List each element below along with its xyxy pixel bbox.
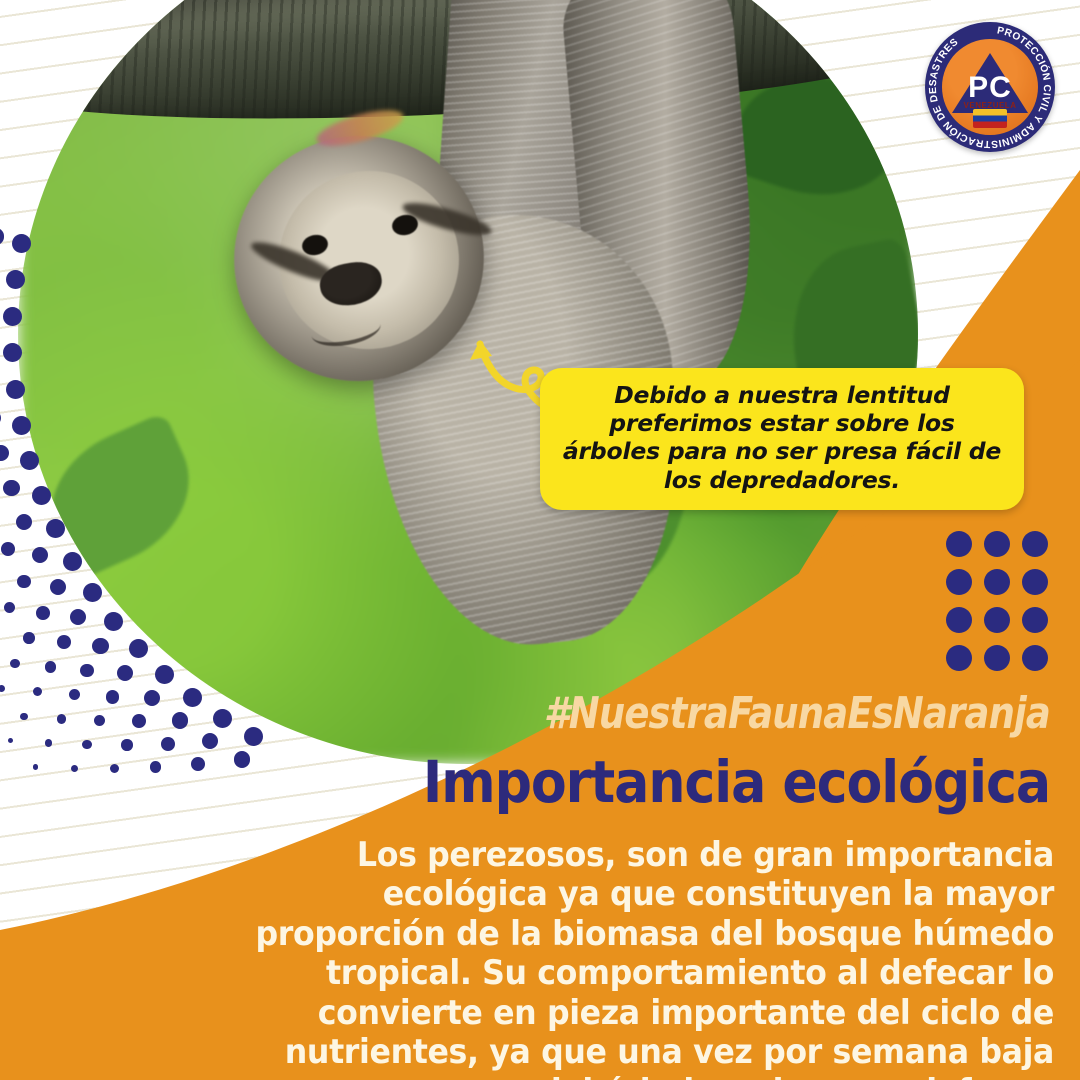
grid-dot	[1022, 569, 1048, 595]
grid-dot	[1022, 645, 1048, 671]
grid-dot	[984, 531, 1010, 557]
grid-dot	[946, 531, 972, 557]
navy-dot-grid	[946, 531, 1060, 683]
speech-bubble-text: Debido a nuestra lentitud preferimos est…	[560, 381, 1004, 494]
grid-dot	[984, 569, 1010, 595]
grid-dot	[1022, 607, 1048, 633]
article-title: Importancia ecológica	[105, 752, 1050, 813]
grid-dot	[984, 607, 1010, 633]
logo-inner-disc: PC VENEZUELA	[942, 39, 1038, 135]
proteccion-civil-logo[interactable]: PROTECCIÓN CIVIL Y ADMINISTRACIÓN DE DES…	[925, 22, 1055, 152]
speech-bubble: Debido a nuestra lentitud preferimos est…	[540, 368, 1024, 510]
article-body: Los perezosos, son de gran importancia e…	[255, 836, 1054, 1080]
grid-dot	[946, 645, 972, 671]
venezuela-flag-icon	[973, 109, 1007, 128]
campaign-hashtag[interactable]: #NuestraFaunaEsNaranja	[168, 688, 1050, 739]
grid-dot	[984, 645, 1010, 671]
infographic-poster: PROTECCIÓN CIVIL Y ADMINISTRACIÓN DE DES…	[0, 0, 1080, 1080]
grid-dot	[946, 607, 972, 633]
grid-dot	[1022, 531, 1048, 557]
grid-dot	[946, 569, 972, 595]
logo-monogram: PC	[942, 73, 1038, 103]
